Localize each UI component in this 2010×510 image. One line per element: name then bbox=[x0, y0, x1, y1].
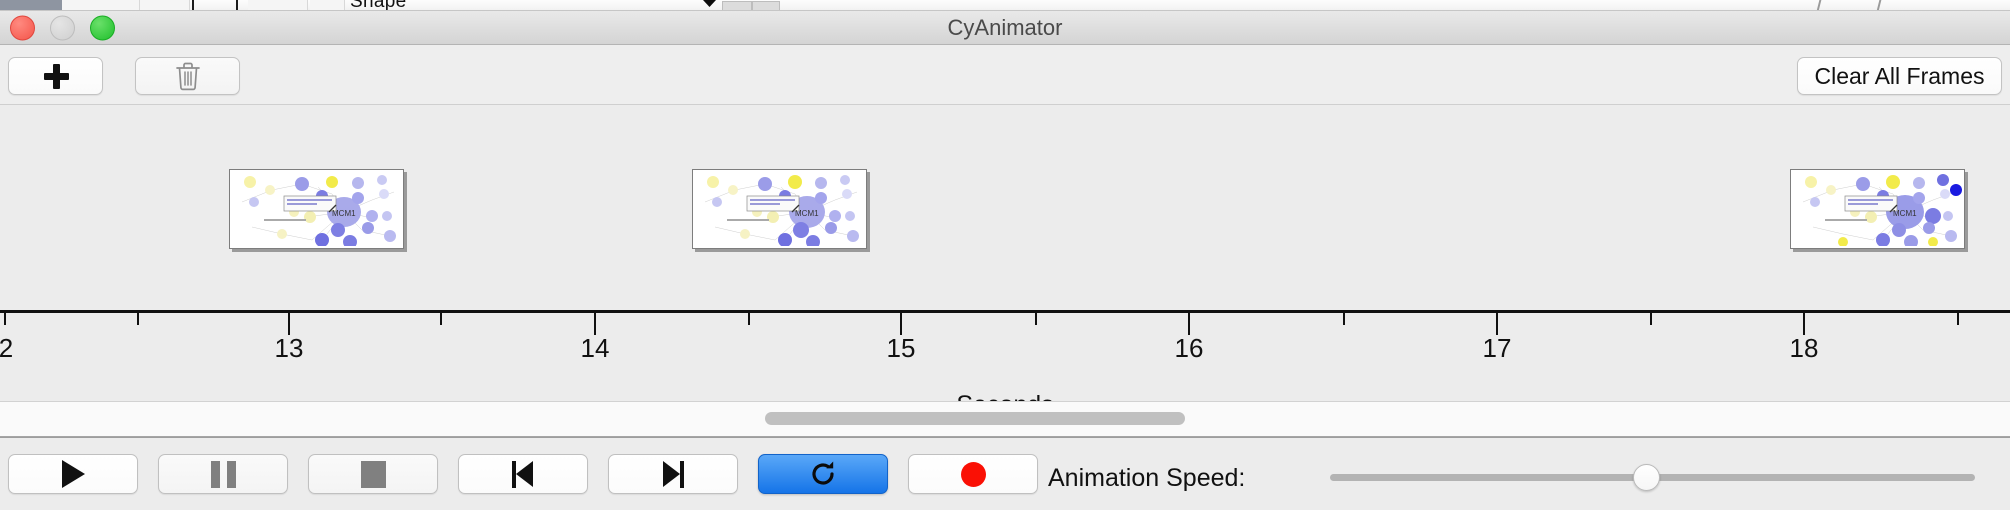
background-window-chunk bbox=[62, 0, 140, 11]
stop-icon bbox=[361, 461, 386, 488]
axis-tick-major bbox=[594, 313, 596, 335]
pause-button[interactable] bbox=[158, 454, 288, 494]
timeline-frame-thumbnail[interactable]: MCM1 bbox=[692, 169, 867, 249]
axis-tick-minor bbox=[748, 313, 750, 325]
add-frame-button[interactable] bbox=[8, 57, 103, 95]
background-window-chunk bbox=[140, 0, 190, 11]
axis-tick-minor bbox=[4, 313, 6, 325]
cyanimator-window: Shape CyAnimator Clear All Frames bbox=[0, 0, 2010, 510]
timeline-frame-thumbnail[interactable]: MCM1 bbox=[1790, 169, 1965, 249]
network-preview: MCM1 bbox=[695, 172, 864, 246]
axis-tick-label: 14 bbox=[581, 333, 610, 364]
skip-to-end-button[interactable] bbox=[608, 454, 738, 494]
scrollbar-thumb[interactable] bbox=[765, 412, 1185, 425]
network-preview: MCM1 bbox=[232, 172, 401, 246]
toolbar: Clear All Frames bbox=[0, 45, 2010, 105]
loop-icon bbox=[808, 459, 838, 489]
axis-tick-major bbox=[1496, 313, 1498, 335]
plus-icon bbox=[43, 63, 69, 89]
svg-text:MCM1: MCM1 bbox=[332, 209, 356, 218]
background-window-tick bbox=[192, 0, 194, 11]
background-window-slant bbox=[1817, 0, 1836, 11]
animation-speed-slider-handle[interactable] bbox=[1633, 464, 1660, 491]
title-bar[interactable]: CyAnimator bbox=[0, 11, 2010, 45]
timeline-frame-thumbnail[interactable]: MCM1 bbox=[229, 169, 404, 249]
axis-tick-label: 13 bbox=[275, 333, 304, 364]
timeline-panel[interactable]: MCM1 bbox=[0, 105, 2010, 401]
record-button[interactable] bbox=[908, 454, 1038, 494]
axis-tick-minor bbox=[1650, 313, 1652, 325]
axis-tick-label: 17 bbox=[1483, 333, 1512, 364]
delete-frame-button[interactable] bbox=[135, 57, 240, 95]
player-controls-bar: Animation Speed: bbox=[0, 437, 2010, 510]
pause-icon bbox=[211, 461, 236, 488]
play-button[interactable] bbox=[8, 454, 138, 494]
axis-tick-minor bbox=[440, 313, 442, 325]
svg-text:MCM1: MCM1 bbox=[1893, 209, 1917, 218]
background-window-label: Shape bbox=[350, 0, 406, 11]
network-preview: MCM1 bbox=[1793, 172, 1962, 246]
background-window-slant bbox=[1877, 0, 1896, 11]
record-icon bbox=[961, 462, 986, 487]
svg-text:MCM1: MCM1 bbox=[795, 209, 819, 218]
background-window-box bbox=[722, 1, 752, 11]
clear-all-frames-button[interactable]: Clear All Frames bbox=[1797, 57, 2002, 95]
axis-tick-minor bbox=[1957, 313, 1959, 325]
background-window-chunk bbox=[310, 0, 345, 11]
stop-button[interactable] bbox=[308, 454, 438, 494]
timeline-scrollbar[interactable] bbox=[0, 401, 2010, 437]
background-window-chunk bbox=[248, 0, 308, 11]
background-window-tick bbox=[236, 0, 238, 11]
axis-tick-minor bbox=[137, 313, 139, 325]
axis-tick-label: 15 bbox=[887, 333, 916, 364]
axis-tick-minor bbox=[1035, 313, 1037, 325]
page-title: CyAnimator bbox=[0, 11, 2010, 45]
trash-icon bbox=[175, 61, 201, 91]
axis-tick-minor bbox=[1343, 313, 1345, 325]
skip-to-start-button[interactable] bbox=[458, 454, 588, 494]
animation-speed-label: Animation Speed: bbox=[1048, 464, 1245, 493]
skip-back-icon bbox=[509, 461, 537, 488]
skip-forward-icon bbox=[659, 461, 687, 488]
axis-tick-major bbox=[900, 313, 902, 335]
axis-tick-label: 2 bbox=[0, 333, 13, 364]
axis-tick-major bbox=[1188, 313, 1190, 335]
play-icon bbox=[62, 460, 85, 488]
axis-tick-major bbox=[288, 313, 290, 335]
loop-button[interactable] bbox=[758, 454, 888, 494]
background-window-notch bbox=[703, 0, 716, 7]
background-window-chunk bbox=[0, 0, 62, 11]
background-window-box bbox=[752, 1, 780, 11]
axis-tick-label: 18 bbox=[1790, 333, 1819, 364]
axis-title: Seconds bbox=[0, 391, 2010, 401]
axis-tick-major bbox=[1803, 313, 1805, 335]
axis-tick-label: 16 bbox=[1175, 333, 1204, 364]
timeline-axis bbox=[0, 310, 2010, 313]
background-window-strip: Shape bbox=[0, 0, 2010, 11]
